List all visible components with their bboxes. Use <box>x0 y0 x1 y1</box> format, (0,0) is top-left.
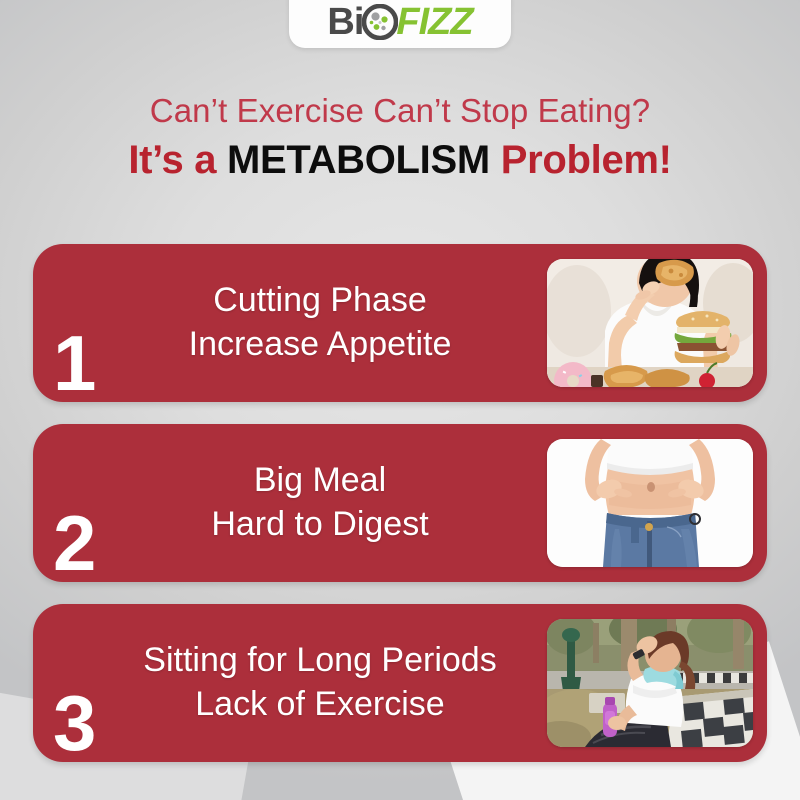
infographic-poster: Bi FIZZ Can’t Exercise Can’t Stop Eating… <box>0 0 800 800</box>
card-photo-resting-on-bench <box>547 619 753 747</box>
card-photo-eating-fast-food <box>547 259 753 387</box>
molecule-orb-icon <box>362 4 398 40</box>
headline-question: Can’t Exercise Can’t Stop Eating? <box>0 92 800 131</box>
card-text: Big Meal Hard to Digest <box>115 459 539 546</box>
card-line-2: Hard to Digest <box>115 503 525 547</box>
card-line-2: Lack of Exercise <box>115 683 525 727</box>
card-text: Sitting for Long Periods Lack of Exercis… <box>115 639 539 726</box>
reason-card: 1 Cutting Phase Increase Appetite <box>33 244 767 402</box>
card-number: 1 <box>53 326 94 400</box>
brand-logo-badge: Bi FIZZ <box>289 0 511 48</box>
reason-card: 3 Sitting for Long Periods Lack of Exerc… <box>33 604 767 762</box>
headline-statement-suffix: Problem! <box>490 138 672 182</box>
card-number: 3 <box>53 686 94 760</box>
brand-logo: Bi FIZZ <box>327 3 472 41</box>
headline-statement-emphasis: METABOLISM <box>227 138 490 182</box>
reason-card: 2 Big Meal Hard to Digest <box>33 424 767 582</box>
card-line-1: Big Meal <box>115 459 525 503</box>
headline-statement-prefix: It’s a <box>128 138 227 182</box>
card-text: Cutting Phase Increase Appetite <box>115 279 539 366</box>
brand-name-suffix: FIZZ <box>396 3 472 41</box>
card-number: 2 <box>53 506 94 580</box>
card-photo-belly-pointing <box>547 439 753 567</box>
card-line-1: Sitting for Long Periods <box>115 639 525 683</box>
headline-statement: It’s a METABOLISM Problem! <box>0 138 800 182</box>
card-line-1: Cutting Phase <box>115 279 525 323</box>
brand-name-prefix: Bi <box>327 3 363 41</box>
card-line-2: Increase Appetite <box>115 323 525 367</box>
reason-card-list: 1 Cutting Phase Increase Appetite <box>33 244 767 762</box>
headline-block: Can’t Exercise Can’t Stop Eating? It’s a… <box>0 92 800 182</box>
